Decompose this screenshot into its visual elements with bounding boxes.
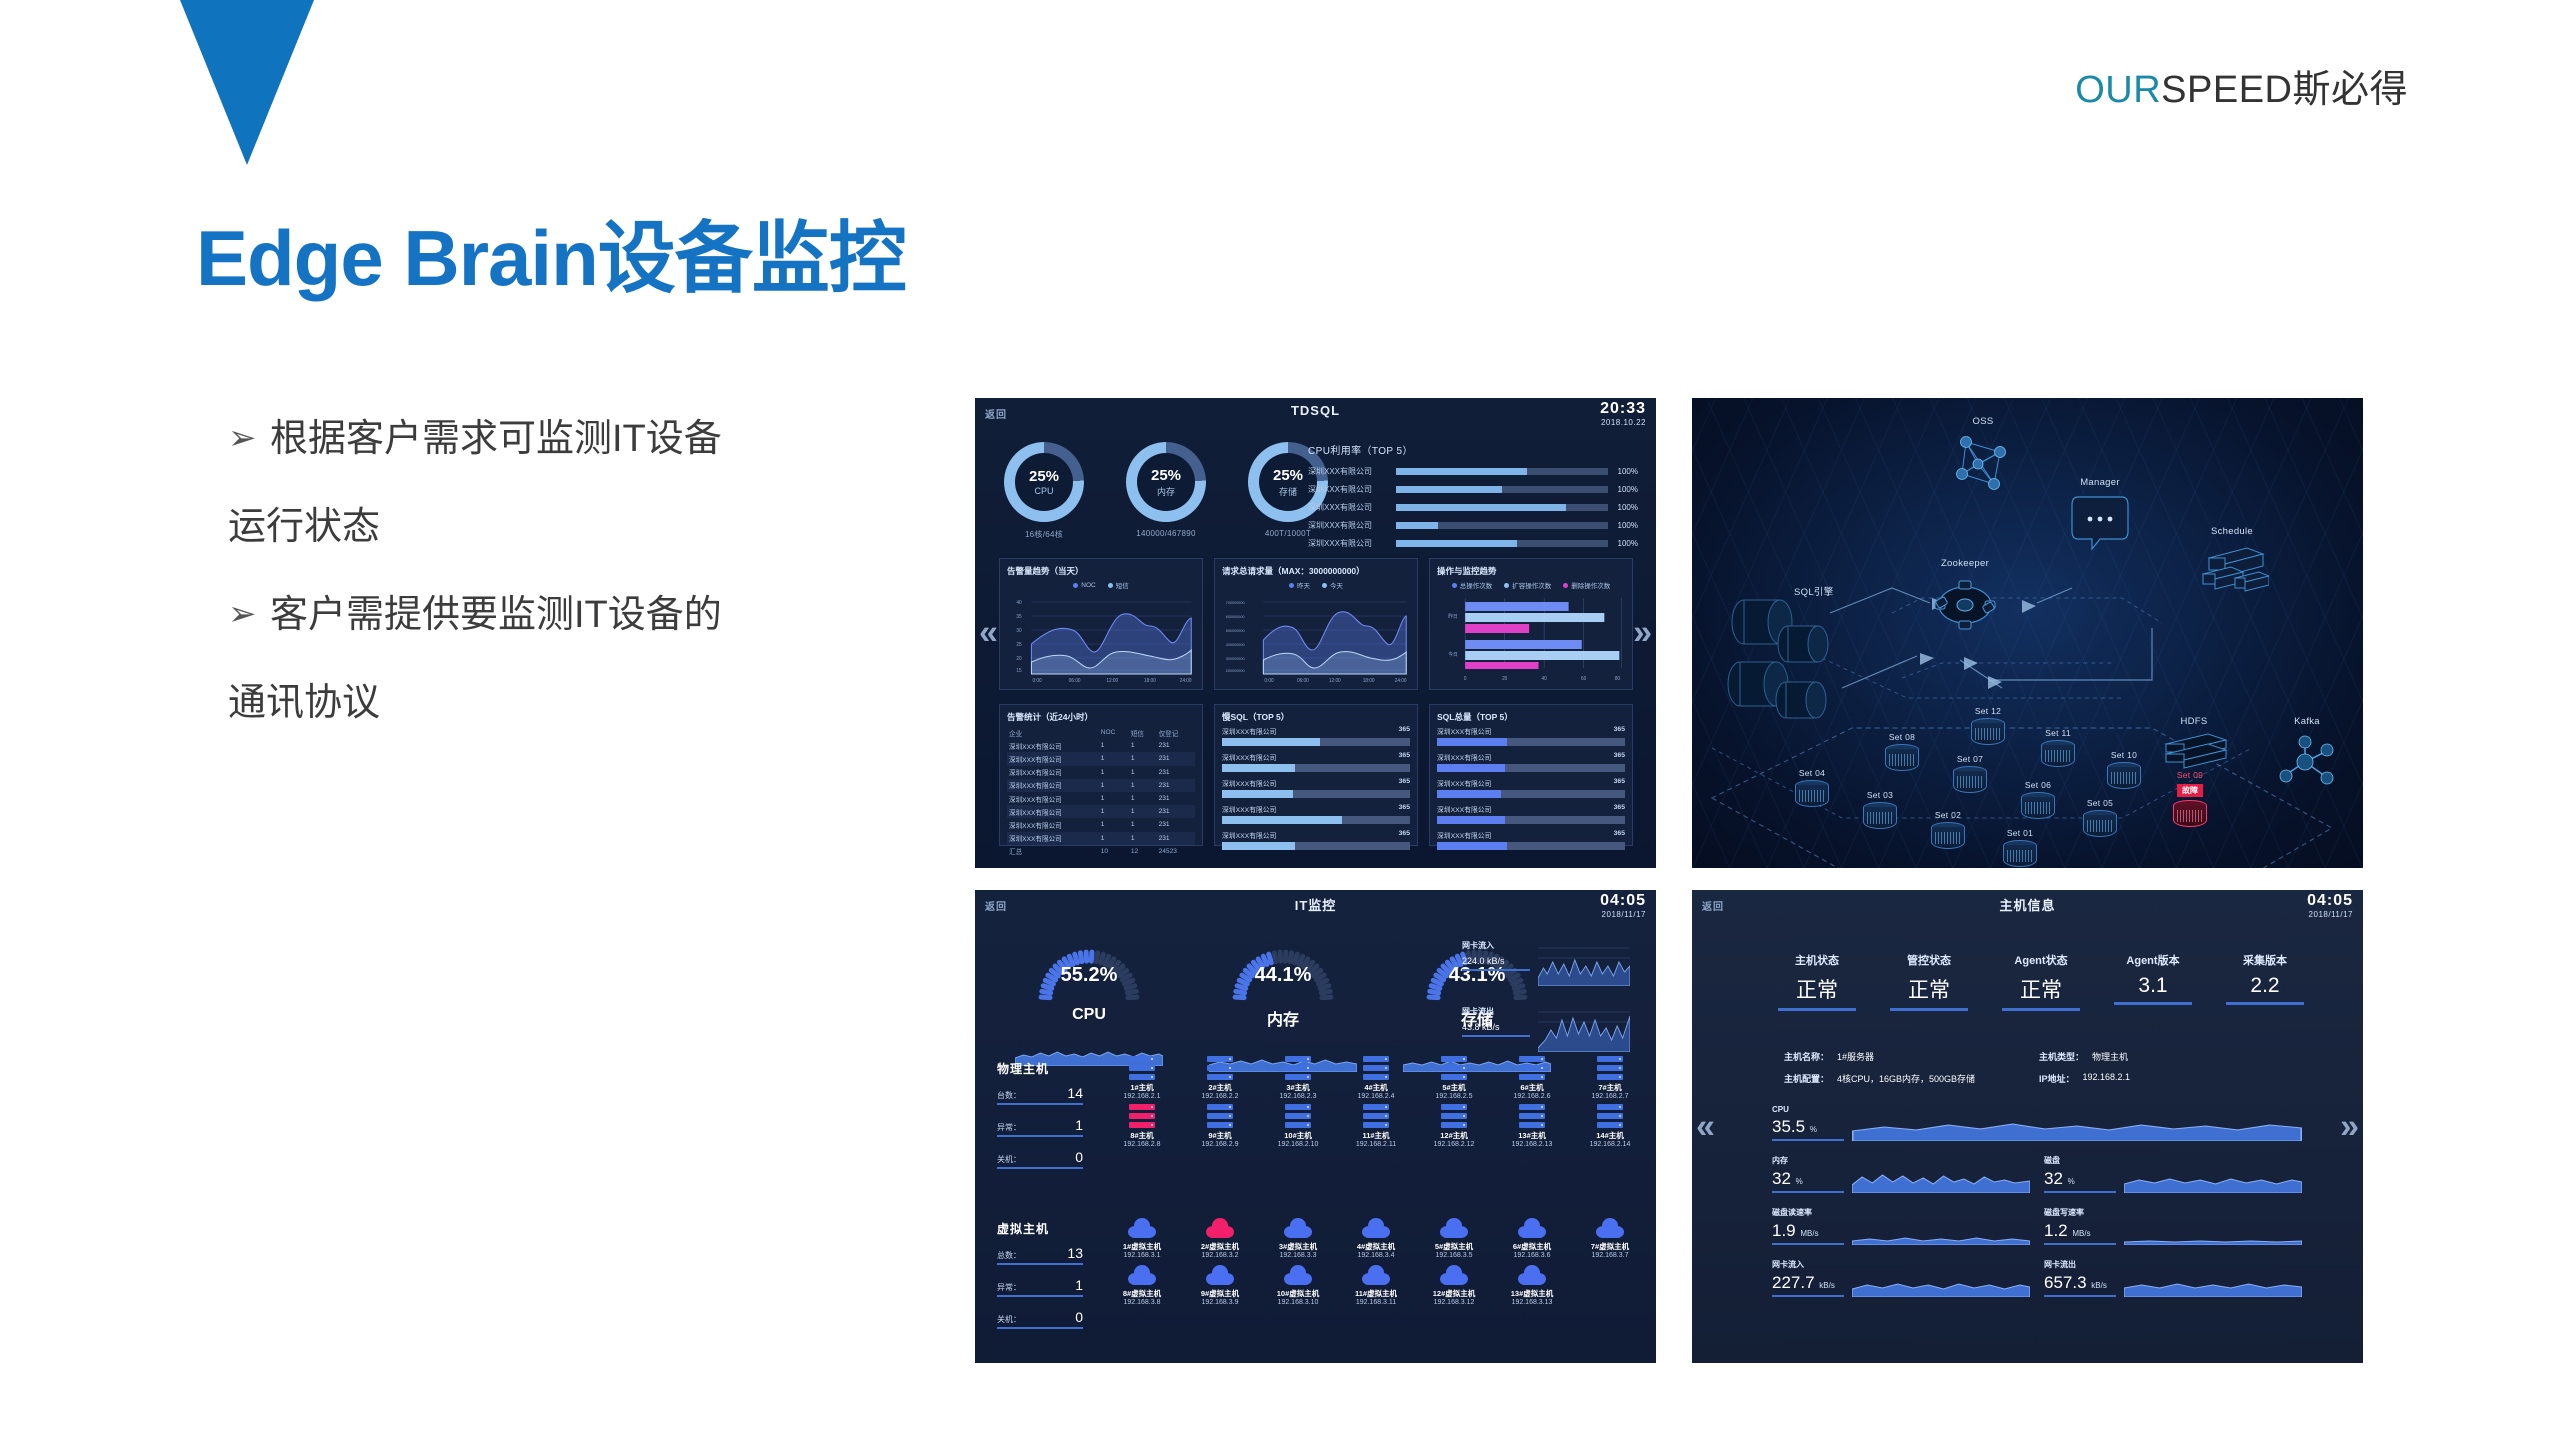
server-icon [1363, 1056, 1389, 1080]
table-cell: 231 [1157, 818, 1195, 831]
dashboard-host-info: 返回 主机信息 04:05 2018/11/17 主机状态正常管控状态正常Age… [1692, 890, 2363, 1363]
virtual-host-item[interactable]: 5#虚拟主机192.168.3.5 [1417, 1216, 1491, 1259]
table-cell: 231 [1157, 805, 1195, 818]
table-card-alarm-stats: 告警统计（近24小时） 企业NOC短信仅登记 深圳XXX有限公司11231深圳X… [999, 704, 1203, 846]
network-value: 43.8 kB/s [1462, 1022, 1530, 1037]
sql-rank-name: 深圳XXX有限公司 [1437, 726, 1491, 736]
topo-set-label: Set 03 [1852, 790, 1908, 800]
host-name: 13#主机 [1495, 1130, 1569, 1141]
svg-text:200000000: 200000000 [1226, 668, 1245, 673]
host-metric: 磁盘32 % [2044, 1155, 2302, 1193]
cpu-top5-bar [1396, 504, 1608, 511]
database-icon [1863, 802, 1897, 832]
cpu-top5-value: 100% [1608, 485, 1638, 494]
database-icon [2107, 762, 2141, 792]
host-back-button[interactable]: 返回 [1702, 898, 1724, 913]
physical-host-item[interactable]: 2#主机192.168.2.2 [1183, 1056, 1257, 1100]
sparkline [1538, 940, 1630, 986]
cloud-icon [1518, 1265, 1546, 1285]
chart-legend: NOC 短信 [1007, 580, 1195, 590]
host-ip: 192.168.3.2 [1183, 1252, 1257, 1259]
legend-label: NOC [1081, 582, 1095, 589]
host-name: 3#主机 [1261, 1082, 1335, 1093]
gauge-label: CPU [1015, 1006, 1163, 1024]
topo-set-node[interactable]: Set 11 [2030, 728, 2086, 770]
topo-set-label: Set 05 [2072, 798, 2128, 808]
host-stat: 总数：13 [997, 1245, 1083, 1265]
host-ip: 192.168.3.8 [1105, 1299, 1179, 1306]
cpu-top5-name: 深圳XXX有限公司 [1308, 466, 1396, 477]
table-cell: 1 [1099, 752, 1129, 765]
cpu-top5-list: CPU利用率（TOP 5） 深圳XXX有限公司100%深圳XXX有限公司100%… [1308, 442, 1638, 556]
host-stat-key: 总数： [997, 1250, 1021, 1261]
topo-set-label: Set 08 [1874, 732, 1930, 742]
sql-rank-name: 深圳XXX有限公司 [1222, 830, 1276, 840]
table-cell: 深圳XXX有限公司 [1007, 792, 1099, 805]
table-row: 深圳XXX有限公司11231 [1007, 779, 1195, 792]
host-name: 13#虚拟主机 [1495, 1288, 1569, 1299]
storage-icon [2156, 730, 2232, 774]
table-cell: 231 [1157, 752, 1195, 765]
host-meta-item: 主机名称：1#服务器 [1784, 1050, 2039, 1063]
table-row: 深圳XXX有限公司11231 [1007, 739, 1195, 752]
donut-icon: 25% 内存 [1126, 442, 1206, 522]
host-status-value: 3.1 [2114, 974, 2192, 1005]
tdsql-back-button[interactable]: 返回 [985, 406, 1007, 421]
cpu-top5-bar [1396, 522, 1608, 529]
topo-set-node[interactable]: Set 12 [1960, 706, 2016, 748]
metric-key: 网卡流入 [1772, 1259, 1844, 1270]
host-ip: 192.168.2.10 [1261, 1141, 1335, 1148]
sql-rank-value: 365 [1614, 804, 1625, 814]
virtual-host-item[interactable]: 3#虚拟主机192.168.3.3 [1261, 1216, 1335, 1259]
topo-label: Manager [2050, 477, 2150, 488]
host-ip: 192.168.3.1 [1105, 1252, 1179, 1259]
host-metric: CPU35.5 % [1772, 1105, 2302, 1141]
topo-set-node[interactable]: Set 02 [1920, 810, 1976, 852]
cloud-icon [1284, 1265, 1312, 1285]
host-name: 11#主机 [1339, 1130, 1413, 1141]
host-ip: 192.168.3.13 [1495, 1299, 1569, 1306]
virtual-host-item[interactable]: 9#虚拟主机192.168.3.9 [1183, 1263, 1257, 1306]
physical-host-section: 物理主机 台数：14异常：1关机：0 [997, 1060, 1083, 1181]
gauge-value: 25% [1029, 468, 1059, 485]
host-next-button[interactable]: » [2340, 1107, 2359, 1146]
it-gauge-cpu: 55.2% CPU [1015, 938, 1163, 1072]
physical-host-item[interactable]: 12#主机192.168.2.12 [1417, 1104, 1491, 1148]
table-cell: 深圳XXX有限公司 [1007, 832, 1099, 845]
host-stat: 关机：0 [997, 1309, 1083, 1329]
topo-set-label: Set 07 [1942, 754, 1998, 764]
server-icon [1207, 1056, 1233, 1080]
host-status-key: 管控状态 [1890, 952, 1968, 968]
host-status-key: 采集版本 [2226, 952, 2304, 968]
cloud-icon [1284, 1218, 1312, 1238]
server-icon [1597, 1056, 1623, 1080]
table-cell: 深圳XXX有限公司 [1007, 779, 1099, 792]
metric-key: 磁盘读速率 [1772, 1207, 1844, 1218]
svg-text:80: 80 [1615, 676, 1621, 682]
host-name: 14#主机 [1573, 1130, 1647, 1141]
tdsql-prev-button[interactable]: « [979, 614, 998, 653]
stack-icon [2195, 540, 2269, 606]
table-cell: 1 [1129, 832, 1157, 845]
bullet-list: ➢ 根据客户需求可监测IT设备 运行状态 ➢ 客户需提供要监测IT设备的 通讯协… [228, 420, 908, 772]
cloud-icon [1128, 1218, 1156, 1238]
topo-node-schedule[interactable]: Schedule [2182, 526, 2282, 611]
cloud-icon [1362, 1265, 1390, 1285]
virtual-host-item[interactable]: 11#虚拟主机192.168.3.11 [1339, 1263, 1413, 1306]
topo-label: Zookeeper [1910, 558, 2020, 569]
host-name: 6#虚拟主机 [1495, 1241, 1569, 1252]
host-name: 5#虚拟主机 [1417, 1241, 1491, 1252]
physical-host-item[interactable]: 14#主机192.168.2.14 [1573, 1104, 1647, 1148]
metric-sparkline [1852, 1111, 2302, 1141]
topo-set-label: Set 10 [2096, 750, 2152, 760]
metric-key: 磁盘写速率 [2044, 1207, 2116, 1218]
chart-title: 告警量趋势（当天） [1007, 565, 1195, 577]
chart-plot-area: 403530 252015 0:0006:0012:00 18:0024:00 [1007, 592, 1195, 684]
table-cell: 深圳XXX有限公司 [1007, 739, 1099, 752]
host-ip: 192.168.2.6 [1495, 1093, 1569, 1100]
gear-icon [1930, 571, 2000, 637]
gauge-label: 内存 [1209, 1006, 1357, 1030]
host-ip: 192.168.2.1 [1105, 1093, 1179, 1100]
cpu-top5-value: 100% [1608, 503, 1638, 512]
svg-text:18:00: 18:00 [1363, 678, 1375, 684]
host-ip: 192.168.3.11 [1339, 1299, 1413, 1306]
host-meta-key: 主机类型： [2039, 1050, 2084, 1063]
table-summary-row: 汇总101224523 [1007, 845, 1195, 858]
svg-text:30: 30 [1016, 628, 1022, 634]
host-stat-key: 关机： [997, 1154, 1021, 1165]
host-name: 2#主机 [1183, 1082, 1257, 1093]
table-cell: 1 [1129, 805, 1157, 818]
gauge-label: 存储 [1279, 485, 1297, 498]
physical-host-item[interactable]: 9#主机192.168.2.9 [1183, 1104, 1257, 1148]
physical-host-item[interactable]: 1#主机192.168.2.1 [1105, 1056, 1179, 1100]
sql-rank-value: 365 [1614, 830, 1625, 840]
cpu-top5-row: 深圳XXX有限公司100% [1308, 502, 1638, 513]
host-status-value: 2.2 [2226, 974, 2304, 1005]
table-cell: 1 [1099, 739, 1129, 752]
table-title: 告警统计（近24小时） [1007, 711, 1195, 723]
physical-host-item[interactable]: 8#主机192.168.2.8 [1105, 1104, 1179, 1148]
legend-label: 总操作次数 [1460, 580, 1493, 590]
slide-root: OURSPEED斯必得 Edge Brain设备监控 ➢ 根据客户需求可监测IT… [0, 0, 2560, 1440]
svg-text:300000000: 300000000 [1226, 656, 1245, 661]
metric-value: 1.2 MB/s [2044, 1221, 2116, 1245]
database-icon [2021, 792, 2055, 822]
topo-set-node[interactable]: Set 06 [2010, 780, 2066, 822]
host-status-item: 管控状态正常 [1890, 952, 1968, 1011]
physical-host-item[interactable]: 11#主机192.168.2.11 [1339, 1104, 1413, 1148]
topo-node-zookeeper[interactable]: Zookeeper [1910, 558, 2020, 642]
host-ip: 192.168.2.5 [1417, 1093, 1491, 1100]
chart-card-request-trend: 请求总请求量（MAX：3000000000） 昨天 今天 [1214, 558, 1418, 690]
virtual-host-grid: 1#虚拟主机192.168.3.12#虚拟主机192.168.3.23#虚拟主机… [1105, 1216, 1647, 1306]
server-icon [1285, 1104, 1311, 1128]
sql-rank-row: 深圳XXX有限公司365 [1222, 804, 1410, 824]
host-name: 8#主机 [1105, 1130, 1179, 1141]
table-cell: 1 [1099, 818, 1129, 831]
chart-plot-area: 昨日今日 02040 6080 [1437, 592, 1625, 684]
table-title: 慢SQL（TOP 5） [1222, 711, 1410, 723]
physical-host-item[interactable]: 7#主机192.168.2.7 [1573, 1056, 1647, 1100]
bullet-arrow-icon: ➢ [228, 596, 270, 633]
sql-rank-bar [1437, 790, 1625, 798]
topo-set-node[interactable]: Set 09故障 [2162, 770, 2218, 830]
cpu-top5-name: 深圳XXX有限公司 [1308, 502, 1396, 513]
cloud-icon [1128, 1265, 1156, 1285]
virtual-host-item[interactable]: 12#虚拟主机192.168.3.12 [1417, 1263, 1491, 1306]
host-status-value: 正常 [2002, 974, 2080, 1011]
topo-set-node[interactable]: Set 03 [1852, 790, 1908, 832]
database-icon [1971, 718, 2005, 748]
host-name: 9#主机 [1183, 1130, 1257, 1141]
physical-host-item[interactable]: 3#主机192.168.2.3 [1261, 1056, 1335, 1100]
cpu-top5-name: 深圳XXX有限公司 [1308, 484, 1396, 495]
metric-key: CPU [1772, 1105, 1844, 1114]
svg-text:15: 15 [1016, 668, 1022, 674]
sql-rank-value: 365 [1399, 726, 1410, 736]
network-value: 224.0 kB/s [1462, 956, 1530, 971]
cloud-icon [1362, 1218, 1390, 1238]
host-ip: 192.168.2.9 [1183, 1141, 1257, 1148]
sql-rank-value: 365 [1399, 778, 1410, 788]
svg-text:600000000: 600000000 [1226, 614, 1245, 619]
host-metric: 内存32 % [1772, 1155, 2030, 1193]
host-ip: 192.168.3.6 [1495, 1252, 1569, 1259]
host-ip: 192.168.3.3 [1261, 1252, 1335, 1259]
tdsql-header: 返回 TDSQL 20:33 2018.10.22 [975, 398, 1656, 432]
tdsql-next-button[interactable]: » [1633, 614, 1652, 653]
host-ip: 192.168.2.8 [1105, 1141, 1179, 1148]
host-time: 04:05 [2307, 892, 2353, 910]
topo-set-node[interactable]: Set 01 [1992, 828, 2048, 868]
brand-logo-secondary: SPEED斯必得 [2161, 69, 2408, 111]
metric-value: 227.7 kB/s [1772, 1273, 1844, 1297]
physical-host-item[interactable]: 5#主机192.168.2.5 [1417, 1056, 1491, 1100]
host-name: 8#虚拟主机 [1105, 1288, 1179, 1299]
table-cell: 汇总 [1007, 845, 1099, 858]
metric-sparkline [2124, 1163, 2302, 1193]
host-ip: 192.168.3.10 [1261, 1299, 1335, 1306]
database-icon [1885, 744, 1919, 774]
host-date: 2018/11/17 [2307, 910, 2353, 919]
virtual-host-item[interactable]: 10#虚拟主机192.168.3.10 [1261, 1263, 1335, 1306]
sql-rank-row: 深圳XXX有限公司365 [1437, 778, 1625, 798]
virtual-host-item[interactable]: 7#虚拟主机192.168.3.7 [1573, 1216, 1647, 1259]
cpu-top5-bar [1396, 540, 1608, 547]
host-ip: 192.168.2.4 [1339, 1093, 1413, 1100]
topo-label: HDFS [2154, 716, 2234, 727]
host-ip: 192.168.2.13 [1495, 1141, 1569, 1148]
host-stat: 异常：1 [997, 1277, 1083, 1297]
sql-rank-name: 深圳XXX有限公司 [1437, 752, 1491, 762]
gauge-label: CPU [1034, 486, 1053, 496]
svg-text:40: 40 [1542, 676, 1548, 682]
legend-label: 今天 [1330, 580, 1343, 590]
virtual-host-item[interactable]: 13#虚拟主机192.168.3.13 [1495, 1263, 1569, 1306]
network-label: 网卡流入 [1462, 940, 1530, 951]
physical-host-item[interactable]: 4#主机192.168.2.4 [1339, 1056, 1413, 1100]
metric-key: 内存 [1772, 1155, 1844, 1166]
svg-text:25: 25 [1016, 642, 1022, 648]
metric-value: 32 % [2044, 1169, 2116, 1193]
table-row: 深圳XXX有限公司11231 [1007, 752, 1195, 765]
svg-text:24:00: 24:00 [1180, 678, 1192, 684]
host-metrics-group: CPU35.5 %内存32 %磁盘32 %磁盘读速率1.9 MB/s磁盘写速率1… [1772, 1105, 2302, 1311]
legend-label: 扩容操作次数 [1512, 580, 1551, 590]
arc-gauge-icon: 55.2% [1029, 938, 1149, 1004]
physical-host-item[interactable]: 6#主机192.168.2.6 [1495, 1056, 1569, 1100]
host-stat: 关机：0 [997, 1149, 1083, 1169]
table-cell: 1 [1129, 766, 1157, 779]
host-name: 1#虚拟主机 [1105, 1241, 1179, 1252]
host-stat-value: 0 [1075, 1309, 1083, 1325]
sql-rank-row: 深圳XXX有限公司365 [1437, 830, 1625, 850]
svg-text:24:00: 24:00 [1395, 678, 1407, 684]
brand-logo: OURSPEED斯必得 [2075, 58, 2408, 113]
server-icon [1129, 1104, 1155, 1128]
sql-rank-bar [1437, 738, 1625, 746]
cpu-top5-value: 100% [1608, 467, 1638, 476]
virtual-host-item[interactable]: 2#虚拟主机192.168.3.2 [1183, 1216, 1257, 1259]
physical-host-grid: 1#主机192.168.2.12#主机192.168.2.23#主机192.16… [1105, 1056, 1647, 1148]
tdsql-date: 2018.10.22 [1600, 418, 1646, 427]
bullet-text-line2: 运行状态 [228, 508, 908, 546]
tdsql-title: TDSQL [1291, 403, 1340, 418]
host-stat-key: 异常： [997, 1122, 1021, 1133]
bullet-arrow-icon: ➢ [228, 420, 270, 457]
it-network-in: 网卡流入 224.0 kB/s [1462, 940, 1630, 986]
table-cell: 231 [1157, 779, 1195, 792]
metric-sparkline [1852, 1267, 2030, 1297]
host-name: 4#虚拟主机 [1339, 1241, 1413, 1252]
bullet-item: ➢ 根据客户需求可监测IT设备 运行状态 [228, 420, 908, 546]
host-metric: 磁盘写速率1.2 MB/s [2044, 1207, 2302, 1245]
host-name: 5#主机 [1417, 1082, 1491, 1093]
tdsql-chart-row: 告警量趋势（当天） NOC 短信 [999, 558, 1633, 690]
virtual-host-item[interactable]: 4#虚拟主机192.168.3.4 [1339, 1216, 1413, 1259]
host-name: 10#主机 [1261, 1130, 1335, 1141]
server-icon [1129, 1056, 1155, 1080]
host-ip: 192.168.3.12 [1417, 1299, 1491, 1306]
topo-label: OSS [1938, 416, 2028, 427]
donut-icon: 25% CPU [1004, 442, 1084, 522]
host-stat-key: 关机： [997, 1314, 1021, 1325]
virtual-host-item[interactable]: 8#虚拟主机192.168.3.8 [1105, 1263, 1179, 1306]
host-stat-key: 台数： [997, 1090, 1021, 1101]
sql-rank-bar [1222, 764, 1410, 772]
host-meta-item: IP地址：192.168.2.1 [2039, 1072, 2294, 1085]
chart-legend: 昨天 今天 [1222, 580, 1410, 590]
physical-host-item[interactable]: 10#主机192.168.2.10 [1261, 1104, 1335, 1148]
brand-logo-primary: OUR [2075, 69, 2161, 111]
virtual-host-section: 虚拟主机 总数：13异常：1关机：0 [997, 1220, 1083, 1341]
topo-node-manager[interactable]: Manager [2050, 477, 2150, 556]
it-time: 04:05 [1600, 892, 1646, 910]
legend-label: 删除操作次数 [1571, 580, 1610, 590]
host-name: 6#主机 [1495, 1082, 1569, 1093]
svg-text:0:00: 0:00 [1033, 678, 1042, 684]
cpu-top5-title: CPU利用率（TOP 5） [1308, 442, 1638, 457]
gauge-value: 44.1% [1223, 964, 1343, 987]
sql-rank-row: 深圳XXX有限公司365 [1437, 804, 1625, 824]
server-icon [1597, 1104, 1623, 1128]
host-ip: 192.168.2.11 [1339, 1141, 1413, 1148]
host-metric-row: 磁盘读速率1.9 MB/s磁盘写速率1.2 MB/s [1772, 1207, 2302, 1245]
table-title: SQL总量（TOP 5） [1437, 711, 1625, 723]
topo-node-kafka[interactable]: Kafka [2270, 716, 2344, 801]
virtual-host-item[interactable]: 6#虚拟主机192.168.3.6 [1495, 1216, 1569, 1259]
tdsql-gauge-cpu: 25% CPU 16核/64核 [997, 442, 1091, 540]
sql-rank-name: 深圳XXX有限公司 [1222, 726, 1276, 736]
table-header: 企业 [1007, 726, 1099, 739]
table-header: 仅登记 [1157, 726, 1195, 739]
table-cell: 231 [1157, 792, 1195, 805]
host-name: 12#主机 [1417, 1130, 1491, 1141]
physical-host-item[interactable]: 13#主机192.168.2.13 [1495, 1104, 1569, 1148]
host-stat-value: 1 [1075, 1277, 1083, 1293]
sql-rank-name: 深圳XXX有限公司 [1437, 804, 1491, 814]
dashboard-topology: OSS Manager Schedule [1692, 398, 2363, 868]
sql-rank-name: 深圳XXX有限公司 [1437, 830, 1491, 840]
chart-card-alarm-trend: 告警量趋势（当天） NOC 短信 [999, 558, 1203, 690]
topo-node-oss[interactable]: OSS [1938, 416, 2028, 501]
server-icon [1519, 1104, 1545, 1128]
host-stat-value: 13 [1067, 1245, 1083, 1261]
host-meta-value: 物理主机 [2092, 1050, 2128, 1063]
host-stat: 异常：1 [997, 1117, 1083, 1137]
host-metric: 网卡流入227.7 kB/s [1772, 1259, 2030, 1297]
database-icon [2041, 740, 2075, 770]
virtual-host-item[interactable]: 1#虚拟主机192.168.3.1 [1105, 1216, 1179, 1259]
topo-set-node[interactable]: Set 07 [1942, 754, 1998, 796]
host-meta-item: 主机类型：物理主机 [2039, 1050, 2294, 1063]
cloud-icon [1440, 1218, 1468, 1238]
table-cell: 1 [1099, 832, 1129, 845]
topo-set-node[interactable]: Set 08 [1874, 732, 1930, 774]
host-metric-row: 网卡流入227.7 kB/s网卡流出657.3 kB/s [1772, 1259, 2302, 1297]
table-row: 深圳XXX有限公司11231 [1007, 818, 1195, 831]
it-back-button[interactable]: 返回 [985, 898, 1007, 913]
svg-text:12:00: 12:00 [1106, 678, 1118, 684]
host-status-key: Agent版本 [2114, 952, 2192, 968]
table-cell: 深圳XXX有限公司 [1007, 818, 1099, 831]
host-prev-button[interactable]: « [1696, 1107, 1715, 1146]
topo-set-node[interactable]: Set 10 [2096, 750, 2152, 792]
table-cell: 1 [1099, 779, 1129, 792]
svg-text:60: 60 [1581, 676, 1587, 682]
topo-set-node[interactable]: Set 04 [1784, 768, 1840, 810]
topo-set-node[interactable]: Set 05 [2072, 798, 2128, 840]
database-icon [1931, 822, 1965, 852]
fault-badge: 故障 [2177, 784, 2203, 797]
cpu-top5-row: 深圳XXX有限公司100% [1308, 538, 1638, 549]
tdsql-gauge-memory: 25% 内存 140000/467890 [1119, 442, 1213, 540]
svg-text:昨日: 昨日 [1448, 613, 1458, 620]
svg-text:700000000: 700000000 [1226, 600, 1245, 605]
svg-text:06:00: 06:00 [1297, 678, 1309, 684]
table-cell: 1 [1099, 805, 1129, 818]
host-stat-value: 0 [1075, 1149, 1083, 1165]
legend-label: 昨天 [1297, 580, 1310, 590]
host-status-group: 主机状态正常管控状态正常Agent状态正常Agent版本3.1采集版本2.2 [1778, 952, 2304, 1011]
host-name: 2#虚拟主机 [1183, 1241, 1257, 1252]
host-name: 7#虚拟主机 [1573, 1241, 1647, 1252]
